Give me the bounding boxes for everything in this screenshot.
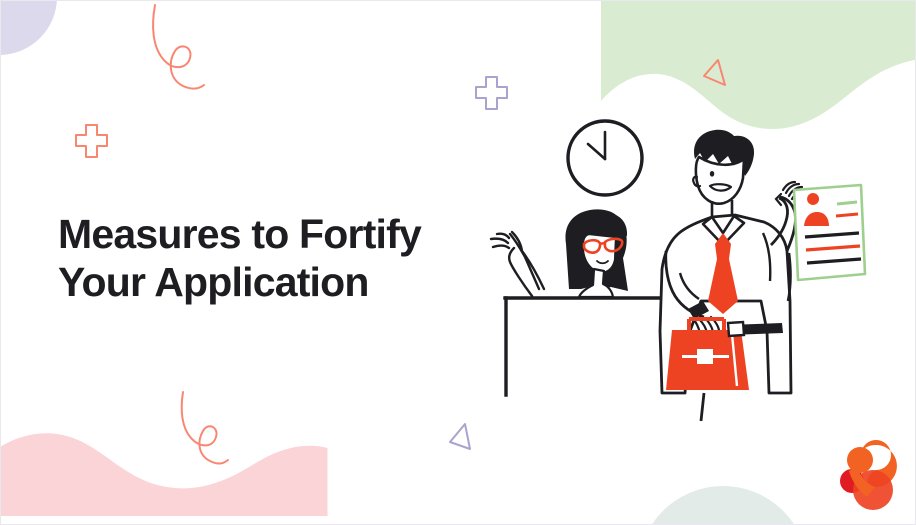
logo-circle-small (847, 447, 873, 473)
slide-canvas: Measures to Fortify Your Application (0, 0, 916, 525)
brand-logo[interactable] (1, 1, 916, 525)
